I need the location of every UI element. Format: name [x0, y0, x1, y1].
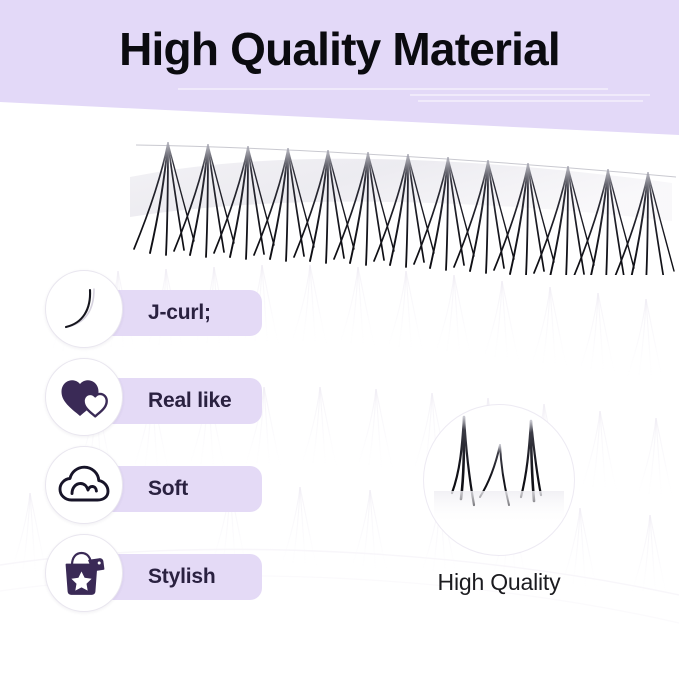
- feature-item-soft[interactable]: Soft: [0, 446, 300, 534]
- magnifier-circle: [424, 405, 574, 555]
- high-quality-inset: High Quality: [424, 405, 574, 596]
- feature-label: Real like: [148, 389, 231, 413]
- feature-icon-circle: [45, 446, 123, 524]
- feature-icon-circle: [45, 358, 123, 436]
- feature-list: J-curl; Real like: [0, 270, 300, 622]
- cloud-icon: [58, 465, 110, 505]
- feature-label: J-curl;: [148, 301, 211, 325]
- j-curl-lash-icon: [54, 279, 114, 339]
- header-rule-2: [410, 94, 650, 96]
- feature-label: Soft: [148, 477, 188, 501]
- feature-item-stylish[interactable]: Stylish: [0, 534, 300, 622]
- lash-fan-strip-photo: [120, 125, 679, 275]
- header-rule-3: [418, 100, 643, 102]
- page-title: High Quality Material: [0, 26, 679, 72]
- high-quality-caption: High Quality: [424, 569, 574, 596]
- magnified-lash-fans-icon: [424, 405, 574, 555]
- feature-icon-circle: [45, 270, 123, 348]
- feature-item-real-like[interactable]: Real like: [0, 358, 300, 446]
- shopping-bag-star-icon: [60, 550, 108, 596]
- double-heart-icon: [60, 375, 108, 419]
- feature-label: Stylish: [148, 565, 215, 589]
- feature-icon-circle: [45, 534, 123, 612]
- feature-item-j-curl[interactable]: J-curl;: [0, 270, 300, 358]
- promo-image-root: High Quality Material J-curl; Real like: [0, 0, 679, 679]
- header-rule-1: [178, 88, 608, 90]
